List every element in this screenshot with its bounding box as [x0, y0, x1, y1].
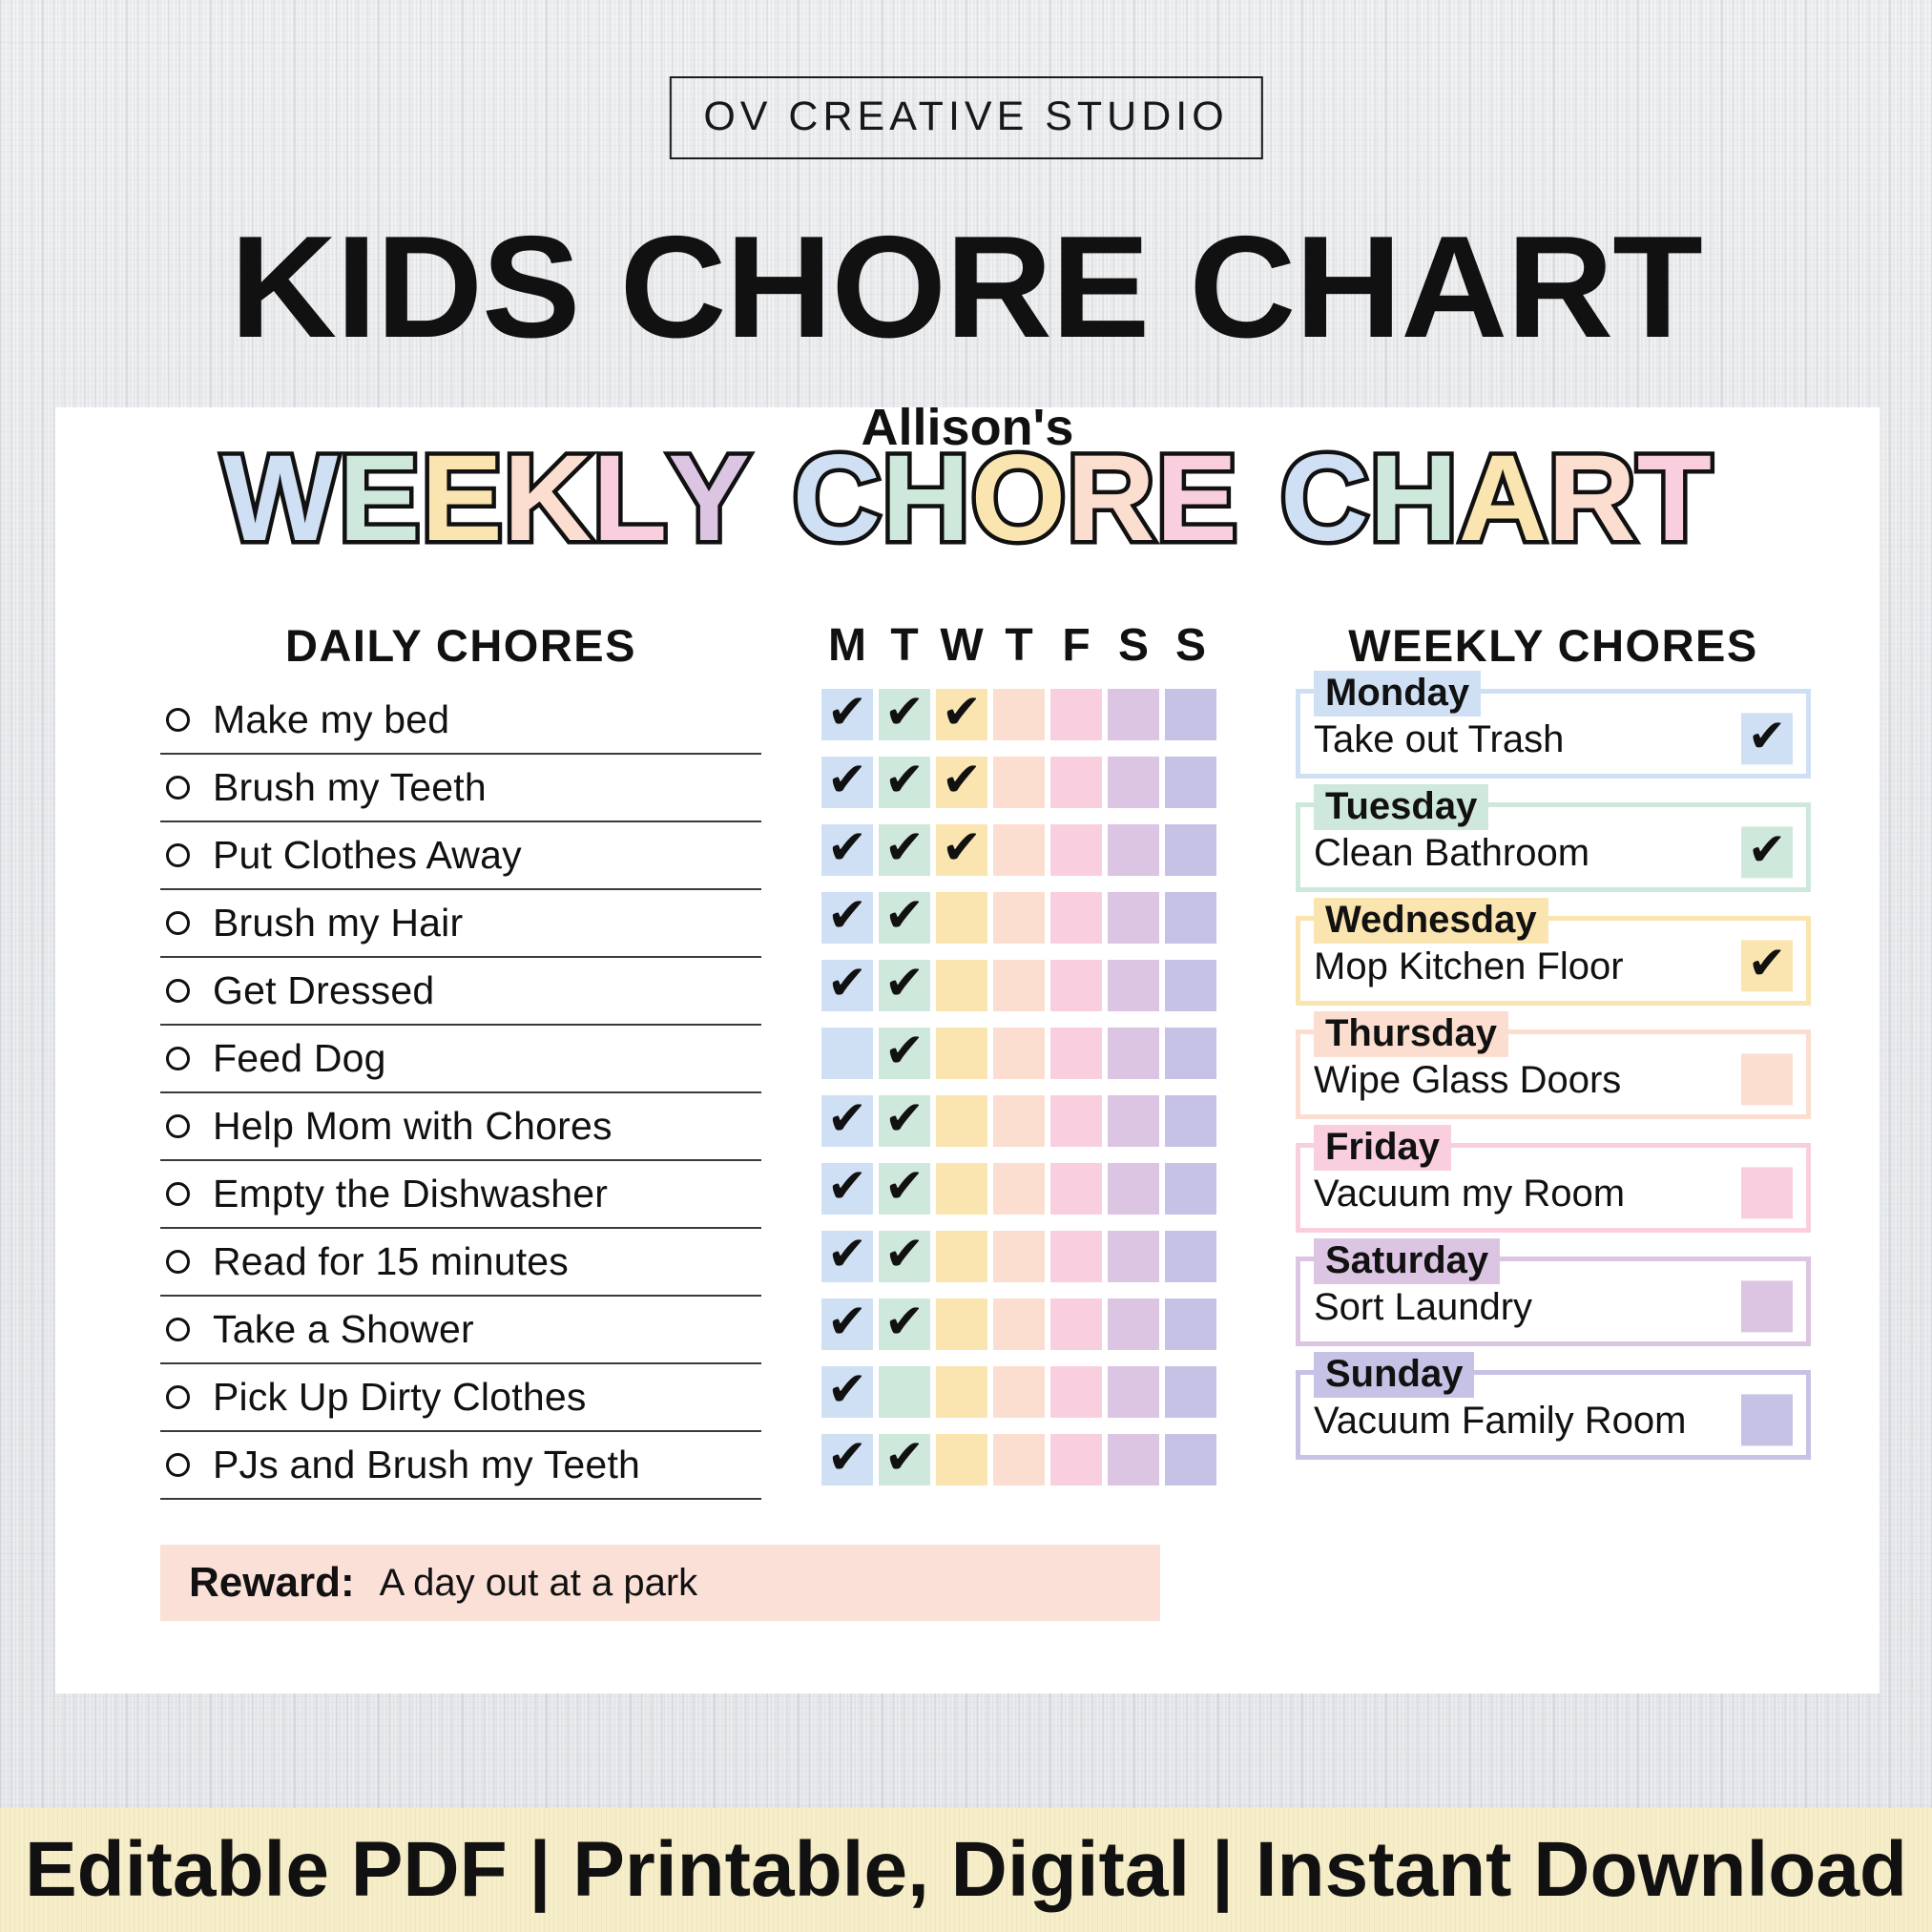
checkmark-icon: ✔ — [1748, 826, 1786, 872]
weekly-chore-day-label: Thursday — [1314, 1011, 1508, 1057]
bubble-title: WEEKLYCHORECHART — [55, 438, 1880, 560]
check-cell[interactable] — [1108, 1028, 1159, 1079]
daily-chore-label: Empty the Dishwasher — [213, 1172, 608, 1216]
check-cell-wrap: ✔ — [876, 1095, 933, 1147]
check-cell[interactable] — [993, 757, 1045, 808]
weekly-chore-task[interactable]: Mop Kitchen Floor — [1300, 945, 1624, 1001]
daily-chore-row[interactable]: Feed Dog — [160, 1026, 761, 1093]
check-cell[interactable] — [1050, 1231, 1102, 1282]
daily-chore-label: Pick Up Dirty Clothes — [213, 1375, 587, 1420]
check-cell-wrap — [1105, 757, 1162, 808]
check-cell[interactable] — [1050, 892, 1102, 944]
circle-checkbox-icon[interactable] — [166, 1114, 190, 1138]
check-cell[interactable]: ✔ — [879, 960, 930, 1011]
check-cell[interactable] — [1165, 892, 1216, 944]
bubble-letter: H — [1369, 438, 1458, 560]
check-cell-wrap: ✔ — [933, 757, 990, 808]
check-cell-wrap: ✔ — [819, 960, 876, 1011]
weekly-chore-box[interactable]: SaturdaySort Laundry — [1296, 1257, 1811, 1346]
check-cell[interactable] — [1050, 1366, 1102, 1418]
weekday-initial: F — [1048, 619, 1105, 675]
weekday-initial: S — [1162, 619, 1219, 675]
checkmark-icon: ✔ — [884, 1162, 924, 1210]
check-cell-wrap — [990, 892, 1048, 944]
check-grid-row: ✔✔ — [819, 1087, 1219, 1154]
check-cell[interactable] — [1108, 892, 1159, 944]
check-cell[interactable] — [1165, 1366, 1216, 1418]
bubble-letter: A — [1459, 438, 1548, 560]
check-cell[interactable] — [993, 960, 1045, 1011]
check-cell-wrap — [1048, 689, 1105, 740]
check-grid-row: ✔✔ — [819, 1425, 1219, 1493]
checkmark-icon: ✔ — [884, 688, 924, 736]
weekly-chore-box[interactable]: WednesdayMop Kitchen Floor✔ — [1296, 916, 1811, 1006]
weekly-chore-day-label: Monday — [1314, 671, 1481, 717]
weekly-chore-day-label: Friday — [1314, 1125, 1451, 1171]
check-grid-row: ✔✔✔ — [819, 680, 1219, 748]
weekly-chore-day-label: Tuesday — [1314, 784, 1488, 830]
check-cell-wrap — [1048, 1298, 1105, 1350]
weekday-initial: M — [819, 619, 876, 675]
check-cell[interactable]: ✔ — [879, 1095, 930, 1147]
check-cell[interactable] — [1108, 960, 1159, 1011]
daily-chores-list: Make my bedBrush my TeethPut Clothes Awa… — [160, 687, 761, 1500]
checkmark-icon: ✔ — [884, 756, 924, 803]
checkmark-icon: ✔ — [884, 1298, 924, 1345]
check-cell-wrap — [1048, 824, 1105, 876]
circle-checkbox-icon[interactable] — [166, 1182, 190, 1206]
bubble-letter: L — [592, 438, 668, 560]
check-cell[interactable] — [1108, 1095, 1159, 1147]
check-cell-wrap — [1162, 1231, 1219, 1282]
check-cell[interactable]: ✔ — [879, 824, 930, 876]
check-cell[interactable] — [1108, 1434, 1159, 1485]
checkmark-icon: ✔ — [827, 823, 867, 871]
check-cell[interactable] — [879, 1366, 930, 1418]
reward-value[interactable]: A day out at a park — [380, 1562, 698, 1605]
bubble-word-weekly: WEEKLY — [222, 438, 751, 560]
check-cell-wrap — [1105, 824, 1162, 876]
check-cell[interactable] — [1050, 824, 1102, 876]
check-cell[interactable] — [993, 1095, 1045, 1147]
check-cell-wrap — [819, 1028, 876, 1079]
check-cell[interactable] — [1108, 1366, 1159, 1418]
weekly-chore-checkbox[interactable]: ✔ — [1741, 940, 1793, 991]
check-cell[interactable] — [936, 1298, 987, 1350]
daily-chore-row[interactable]: Help Mom with Chores — [160, 1093, 761, 1161]
weekly-chore-box[interactable]: FridayVacuum my Room — [1296, 1143, 1811, 1233]
check-cell-wrap: ✔ — [819, 1298, 876, 1350]
check-cell[interactable] — [1108, 757, 1159, 808]
check-cell-wrap — [1048, 1163, 1105, 1215]
check-grid-row: ✔ — [819, 1358, 1219, 1425]
weekly-chore-checkbox[interactable]: ✔ — [1741, 713, 1793, 764]
check-cell-wrap — [990, 1231, 1048, 1282]
bubble-letter: K — [504, 438, 592, 560]
check-cell[interactable] — [936, 1028, 987, 1079]
checkmark-icon: ✔ — [827, 1162, 867, 1210]
daily-chore-label: Brush my Teeth — [213, 765, 487, 810]
circle-checkbox-icon[interactable] — [166, 843, 190, 867]
check-cell[interactable]: ✔ — [879, 689, 930, 740]
daily-chores-heading: DAILY CHORES — [160, 619, 761, 672]
check-cell[interactable] — [1165, 824, 1216, 876]
check-cell-wrap: ✔ — [876, 1231, 933, 1282]
check-cell[interactable] — [1165, 689, 1216, 740]
checkmark-icon: ✔ — [884, 1433, 924, 1481]
circle-checkbox-icon[interactable] — [166, 776, 190, 800]
check-cell[interactable]: ✔ — [821, 689, 873, 740]
weekly-chores-heading: WEEKLY CHORES — [1296, 619, 1811, 672]
weekly-chore-checkbox[interactable] — [1741, 1053, 1793, 1105]
weekly-chore-task[interactable]: Clean Bathroom — [1300, 832, 1589, 887]
weekday-initial: W — [933, 619, 990, 675]
check-cell-wrap — [933, 1434, 990, 1485]
check-cell-wrap: ✔ — [819, 824, 876, 876]
check-cell[interactable] — [1165, 1434, 1216, 1485]
check-grid-row: ✔ — [819, 1019, 1219, 1087]
weekly-chore-checkbox[interactable] — [1741, 1167, 1793, 1218]
weekday-initial: T — [876, 619, 933, 675]
checkmark-icon: ✔ — [884, 823, 924, 871]
check-cell[interactable]: ✔ — [821, 960, 873, 1011]
weekday-check-rows: ✔✔✔✔✔✔✔✔✔✔✔✔✔✔✔✔✔✔✔✔✔✔✔✔✔ — [819, 680, 1219, 1493]
check-cell[interactable]: ✔ — [821, 757, 873, 808]
circle-checkbox-icon[interactable] — [166, 1047, 190, 1070]
daily-chore-label: Read for 15 minutes — [213, 1239, 569, 1284]
bubble-letter: R — [1548, 438, 1636, 560]
check-cell[interactable] — [993, 892, 1045, 944]
check-cell[interactable] — [936, 1366, 987, 1418]
check-cell-wrap — [1105, 689, 1162, 740]
bottom-banner: Editable PDF | Printable, Digital | Inst… — [0, 1808, 1932, 1932]
circle-checkbox-icon[interactable] — [166, 979, 190, 1003]
check-cell-wrap — [1048, 1231, 1105, 1282]
check-cell-wrap — [933, 1366, 990, 1418]
weekly-chore-box[interactable]: TuesdayClean Bathroom✔ — [1296, 802, 1811, 892]
circle-checkbox-icon[interactable] — [166, 1385, 190, 1409]
check-cell[interactable]: ✔ — [821, 1434, 873, 1485]
check-cell[interactable]: ✔ — [936, 824, 987, 876]
weekly-chore-checkbox[interactable] — [1741, 1394, 1793, 1445]
circle-checkbox-icon[interactable] — [166, 1250, 190, 1274]
check-cell[interactable] — [936, 892, 987, 944]
check-cell-wrap — [933, 892, 990, 944]
daily-chore-row[interactable]: Get Dressed — [160, 958, 761, 1026]
bubble-letter: T — [1637, 438, 1713, 560]
daily-chore-row[interactable]: Brush my Hair — [160, 890, 761, 958]
check-cell-wrap — [1105, 1163, 1162, 1215]
daily-chore-label: Help Mom with Chores — [213, 1104, 613, 1149]
bubble-letter: E — [421, 438, 503, 560]
check-grid-row: ✔✔ — [819, 883, 1219, 951]
check-grid-row: ✔✔ — [819, 1222, 1219, 1290]
daily-chore-label: Put Clothes Away — [213, 833, 522, 878]
check-cell[interactable] — [1050, 1028, 1102, 1079]
daily-chore-row[interactable]: Read for 15 minutes — [160, 1229, 761, 1297]
daily-chore-label: Take a Shower — [213, 1307, 474, 1352]
check-cell[interactable] — [1165, 1095, 1216, 1147]
weekly-chore-task[interactable]: Vacuum my Room — [1300, 1173, 1625, 1228]
check-cell[interactable] — [993, 1231, 1045, 1282]
check-cell-wrap — [1162, 1434, 1219, 1485]
check-cell-wrap: ✔ — [876, 689, 933, 740]
check-cell-wrap — [1105, 892, 1162, 944]
check-cell-wrap — [1162, 1095, 1219, 1147]
check-cell-wrap — [876, 1366, 933, 1418]
weekly-chore-checkbox[interactable]: ✔ — [1741, 826, 1793, 878]
check-cell-wrap — [1105, 960, 1162, 1011]
checkmark-icon: ✔ — [884, 891, 924, 939]
check-cell-wrap — [1162, 824, 1219, 876]
weekly-chore-box[interactable]: MondayTake out Trash✔ — [1296, 689, 1811, 779]
check-cell-wrap — [990, 1028, 1048, 1079]
daily-chore-label: Make my bed — [213, 697, 449, 742]
check-cell-wrap: ✔ — [876, 757, 933, 808]
check-cell-wrap — [1105, 1231, 1162, 1282]
check-cell-wrap — [933, 960, 990, 1011]
check-cell-wrap — [1162, 960, 1219, 1011]
check-cell-wrap — [990, 1434, 1048, 1485]
checkmark-icon: ✔ — [884, 1230, 924, 1278]
check-cell-wrap — [1105, 1028, 1162, 1079]
check-cell[interactable]: ✔ — [936, 689, 987, 740]
check-cell-wrap — [990, 824, 1048, 876]
bubble-word-chore: CHORE — [793, 438, 1238, 560]
check-cell-wrap — [1162, 1163, 1219, 1215]
bubble-word-chart: CHART — [1280, 438, 1713, 560]
chore-chart-card: Allison's WEEKLYCHORECHART DAILY CHORES … — [55, 407, 1880, 1693]
check-cell[interactable] — [821, 1028, 873, 1079]
check-cell-wrap: ✔ — [876, 824, 933, 876]
check-cell[interactable] — [993, 1028, 1045, 1079]
check-cell-wrap — [990, 1163, 1048, 1215]
daily-chore-label: Feed Dog — [213, 1036, 386, 1081]
check-cell-wrap — [990, 757, 1048, 808]
circle-checkbox-icon[interactable] — [166, 708, 190, 732]
checkmark-icon: ✔ — [827, 756, 867, 803]
check-cell-wrap — [933, 1163, 990, 1215]
check-cell[interactable]: ✔ — [879, 757, 930, 808]
check-cell-wrap — [990, 960, 1048, 1011]
daily-chore-row[interactable]: Pick Up Dirty Clothes — [160, 1364, 761, 1432]
checkmark-icon: ✔ — [827, 1230, 867, 1278]
weekly-chore-day-label: Saturday — [1314, 1238, 1500, 1284]
check-cell-wrap — [990, 689, 1048, 740]
circle-checkbox-icon[interactable] — [166, 911, 190, 935]
weekday-initial: T — [990, 619, 1048, 675]
check-cell[interactable] — [993, 1298, 1045, 1350]
check-cell-wrap — [1048, 1095, 1105, 1147]
checkmark-icon: ✔ — [1748, 940, 1786, 986]
check-cell-wrap — [1105, 1298, 1162, 1350]
daily-chore-label: Get Dressed — [213, 968, 434, 1013]
reward-label: Reward: — [189, 1559, 355, 1607]
check-cell-wrap: ✔ — [819, 757, 876, 808]
check-cell[interactable]: ✔ — [879, 1163, 930, 1215]
weekly-chores-section: WEEKLY CHORES MondayTake out Trash✔Tuesd… — [1296, 619, 1811, 1484]
circle-checkbox-icon[interactable] — [166, 1453, 190, 1477]
checkmark-icon: ✔ — [1748, 713, 1786, 758]
daily-chore-row[interactable]: Make my bed — [160, 687, 761, 755]
check-cell[interactable] — [993, 1163, 1045, 1215]
daily-chore-row[interactable]: Empty the Dishwasher — [160, 1161, 761, 1229]
check-cell[interactable] — [1050, 1298, 1102, 1350]
weekly-chore-day-label: Sunday — [1314, 1352, 1474, 1398]
bubble-letter: C — [1280, 438, 1369, 560]
check-cell[interactable] — [1165, 757, 1216, 808]
checkmark-icon: ✔ — [884, 1094, 924, 1142]
check-cell[interactable] — [936, 1434, 987, 1485]
check-cell-wrap: ✔ — [819, 689, 876, 740]
check-cell[interactable] — [1108, 824, 1159, 876]
check-cell[interactable] — [1108, 1163, 1159, 1215]
check-cell-wrap — [1048, 1366, 1105, 1418]
check-cell[interactable] — [936, 1231, 987, 1282]
check-cell[interactable] — [1108, 1231, 1159, 1282]
check-cell-wrap — [1105, 1366, 1162, 1418]
check-grid-row: ✔✔ — [819, 1154, 1219, 1222]
daily-chores-section: DAILY CHORES Make my bedBrush my TeethPu… — [160, 619, 761, 1500]
check-cell-wrap: ✔ — [876, 1434, 933, 1485]
check-cell-wrap: ✔ — [876, 1028, 933, 1079]
check-cell-wrap: ✔ — [819, 1434, 876, 1485]
check-cell-wrap: ✔ — [819, 892, 876, 944]
check-cell-wrap — [1162, 892, 1219, 944]
check-cell[interactable]: ✔ — [879, 1434, 930, 1485]
check-cell[interactable]: ✔ — [879, 1231, 930, 1282]
bubble-letter: E — [1156, 438, 1238, 560]
check-cell[interactable] — [936, 1163, 987, 1215]
daily-chore-label: PJs and Brush my Teeth — [213, 1443, 640, 1487]
check-grid-row: ✔✔✔ — [819, 816, 1219, 883]
check-cell[interactable] — [1165, 1028, 1216, 1079]
weekly-chore-box[interactable]: SundayVacuum Family Room — [1296, 1370, 1811, 1460]
bottom-banner-text: Editable PDF | Printable, Digital | Inst… — [25, 1825, 1907, 1915]
checkmark-icon: ✔ — [884, 959, 924, 1007]
check-cell[interactable] — [993, 689, 1045, 740]
check-grid-row: ✔✔✔ — [819, 748, 1219, 816]
checkmark-icon: ✔ — [942, 688, 982, 736]
daily-chore-row[interactable]: Take a Shower — [160, 1297, 761, 1364]
brand-logo-text: OV CREATIVE STUDIO — [703, 93, 1228, 139]
check-cell[interactable] — [1165, 1298, 1216, 1350]
check-cell-wrap — [1162, 1298, 1219, 1350]
check-cell[interactable] — [1108, 1298, 1159, 1350]
weekday-check-grid: MTWTFSS ✔✔✔✔✔✔✔✔✔✔✔✔✔✔✔✔✔✔✔✔✔✔✔✔✔ — [819, 619, 1219, 1493]
check-cell-wrap — [990, 1366, 1048, 1418]
check-cell[interactable]: ✔ — [821, 1095, 873, 1147]
page-title: KIDS CHORE CHART — [0, 215, 1932, 360]
check-cell[interactable]: ✔ — [879, 1028, 930, 1079]
bubble-letter: W — [222, 438, 339, 560]
check-cell[interactable] — [1050, 960, 1102, 1011]
daily-chore-row[interactable]: Put Clothes Away — [160, 822, 761, 890]
check-cell-wrap: ✔ — [933, 824, 990, 876]
check-grid-row: ✔✔ — [819, 951, 1219, 1019]
check-cell-wrap — [1105, 1095, 1162, 1147]
check-cell[interactable]: ✔ — [821, 892, 873, 944]
check-cell-wrap — [933, 1028, 990, 1079]
checkmark-icon: ✔ — [827, 1298, 867, 1345]
brand-logo-box: OV CREATIVE STUDIO — [669, 76, 1262, 159]
check-cell-wrap — [990, 1095, 1048, 1147]
circle-checkbox-icon[interactable] — [166, 1318, 190, 1341]
weekday-initial: S — [1105, 619, 1162, 675]
check-cell-wrap — [1048, 892, 1105, 944]
weekly-chore-task[interactable]: Vacuum Family Room — [1300, 1400, 1686, 1455]
check-cell[interactable] — [1050, 1163, 1102, 1215]
weekly-chore-day-label: Wednesday — [1314, 898, 1548, 944]
check-cell[interactable]: ✔ — [879, 892, 930, 944]
check-cell-wrap — [1048, 757, 1105, 808]
daily-chore-label: Brush my Hair — [213, 901, 463, 945]
check-cell-wrap: ✔ — [876, 960, 933, 1011]
check-cell-wrap — [990, 1298, 1048, 1350]
bubble-letter: H — [882, 438, 970, 560]
check-cell-wrap — [1162, 757, 1219, 808]
check-cell[interactable] — [1165, 1163, 1216, 1215]
check-cell[interactable] — [1165, 960, 1216, 1011]
checkmark-icon: ✔ — [827, 959, 867, 1007]
weekly-chore-task[interactable]: Wipe Glass Doors — [1300, 1059, 1621, 1114]
daily-chore-row[interactable]: Brush my Teeth — [160, 755, 761, 822]
weekly-chores-list: MondayTake out Trash✔TuesdayClean Bathro… — [1296, 689, 1811, 1460]
check-cell[interactable] — [1050, 689, 1102, 740]
check-cell-wrap — [933, 1231, 990, 1282]
check-cell[interactable]: ✔ — [821, 1163, 873, 1215]
check-cell-wrap — [1105, 1434, 1162, 1485]
check-cell[interactable]: ✔ — [821, 824, 873, 876]
checkmark-icon: ✔ — [827, 688, 867, 736]
weekly-chore-task[interactable]: Sort Laundry — [1300, 1286, 1532, 1341]
daily-chore-row[interactable]: PJs and Brush my Teeth — [160, 1432, 761, 1500]
check-grid-row: ✔✔ — [819, 1290, 1219, 1358]
check-cell[interactable]: ✔ — [821, 1366, 873, 1418]
check-cell[interactable] — [1165, 1231, 1216, 1282]
check-cell[interactable] — [936, 960, 987, 1011]
check-cell[interactable]: ✔ — [821, 1231, 873, 1282]
check-cell-wrap: ✔ — [933, 689, 990, 740]
checkmark-icon: ✔ — [827, 891, 867, 939]
checkmark-icon: ✔ — [942, 823, 982, 871]
checkmark-icon: ✔ — [884, 1027, 924, 1074]
check-cell[interactable] — [993, 824, 1045, 876]
check-cell-wrap: ✔ — [819, 1231, 876, 1282]
check-cell[interactable] — [1050, 1095, 1102, 1147]
weekly-chore-task[interactable]: Take out Trash — [1300, 718, 1564, 774]
check-cell[interactable] — [993, 1366, 1045, 1418]
check-cell[interactable] — [1050, 757, 1102, 808]
check-cell[interactable]: ✔ — [821, 1298, 873, 1350]
reward-bar: Reward: A day out at a park — [160, 1545, 1160, 1621]
check-cell-wrap: ✔ — [819, 1095, 876, 1147]
check-cell[interactable]: ✔ — [879, 1298, 930, 1350]
check-cell-wrap: ✔ — [819, 1366, 876, 1418]
check-cell-wrap — [1162, 689, 1219, 740]
checkmark-icon: ✔ — [827, 1365, 867, 1413]
check-cell-wrap — [1048, 960, 1105, 1011]
check-cell[interactable] — [1050, 1434, 1102, 1485]
check-cell[interactable] — [1108, 689, 1159, 740]
check-cell-wrap — [933, 1298, 990, 1350]
check-cell[interactable] — [936, 1095, 987, 1147]
weekly-chore-box[interactable]: ThursdayWipe Glass Doors — [1296, 1029, 1811, 1119]
weekly-chore-checkbox[interactable] — [1741, 1280, 1793, 1332]
check-cell[interactable] — [993, 1434, 1045, 1485]
check-cell-wrap — [1048, 1028, 1105, 1079]
check-cell[interactable]: ✔ — [936, 757, 987, 808]
